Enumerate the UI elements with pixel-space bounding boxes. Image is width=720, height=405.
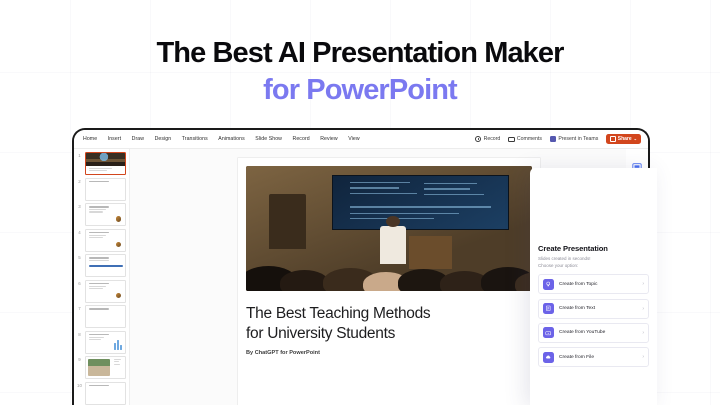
thumbnail-photo — [86, 153, 125, 166]
thumbnail-number: 4 — [74, 229, 85, 255]
ribbon-right-actions: Record Comments Present in Teams Share ⌄ — [475, 134, 641, 144]
slide-thumbnail[interactable] — [85, 254, 126, 277]
cloud-upload-icon — [543, 352, 554, 363]
ribbon-tab-view[interactable]: View — [348, 136, 359, 142]
thumbnail-photo — [88, 359, 110, 376]
chevron-right-icon: › — [642, 306, 644, 312]
chevron-right-icon: › — [642, 281, 644, 287]
create-option-label: Create from YouTube — [559, 330, 637, 335]
thumbnail-number: 6 — [74, 280, 85, 306]
hero-line-2: for PowerPoint — [0, 73, 720, 107]
photo-projection-screen — [332, 175, 509, 230]
thumbnail-number: 3 — [74, 203, 85, 229]
chevron-right-icon: › — [642, 330, 644, 336]
thumbnail-text — [86, 281, 125, 292]
designer-icon[interactable] — [632, 159, 642, 168]
ribbon-tab-record[interactable]: Record — [293, 136, 310, 142]
create-option-label: Create from File — [559, 355, 637, 360]
thumbnail-image-circle — [115, 241, 123, 249]
thumbnail-number: 8 — [74, 331, 85, 357]
panel-subtitle-line-2: Choose your option: — [538, 263, 649, 270]
slide-title-line-2: for University Students — [246, 324, 532, 344]
slide-thumbnail[interactable] — [85, 382, 126, 405]
thumbnail-columns — [86, 312, 125, 319]
video-icon — [543, 327, 554, 338]
ribbon-tab-animations[interactable]: Animations — [218, 136, 244, 142]
ribbon-tab-insert[interactable]: Insert — [108, 136, 121, 142]
ribbon-tab-home[interactable]: Home — [83, 136, 97, 142]
ribbon-tab-transitions[interactable]: Transitions — [182, 136, 208, 142]
thumbnail-chart — [114, 340, 122, 350]
hero-heading: The Best AI Presentation Maker for Power… — [0, 36, 720, 107]
current-slide[interactable]: The Best Teaching Methods for University… — [238, 158, 540, 405]
thumbnail-number: 2 — [74, 178, 85, 204]
thumbnail-number: 10 — [74, 382, 85, 405]
create-option-label: Create from Text — [559, 306, 637, 311]
thumbnail-columns — [86, 184, 125, 191]
panel-subtitle-line-1: Slides created in seconds! — [538, 256, 649, 263]
slide-title[interactable]: The Best Teaching Methods for University… — [246, 304, 532, 343]
record-icon — [475, 136, 481, 142]
share-icon — [610, 136, 615, 141]
ribbon-present-label: Present in Teams — [558, 136, 598, 142]
ribbon-tab-slide-show[interactable]: Slide Show — [255, 136, 282, 142]
create-option-create-from-text[interactable]: Create from Text› — [538, 299, 649, 319]
thumbnail-number: 9 — [74, 356, 85, 382]
ribbon-menu: HomeInsertDrawDesignTransitionsAnimation… — [83, 136, 360, 142]
thumbnail-text — [86, 204, 125, 215]
photo-audience — [246, 234, 532, 292]
create-option-create-from-topic[interactable]: Create from Topic› — [538, 274, 649, 294]
ribbon-tab-design[interactable]: Design — [155, 136, 172, 142]
slide-thumbnail[interactable] — [85, 229, 126, 252]
thumbnail-number: 1 — [74, 152, 85, 178]
chevron-down-icon: ⌄ — [634, 137, 637, 141]
panel-title: Create Presentation — [538, 168, 649, 253]
chevron-right-icon: › — [642, 354, 644, 360]
thumbnail-accent-bar — [89, 265, 123, 267]
thumbnail-text — [86, 230, 125, 241]
thumbnail-text — [86, 255, 125, 263]
thumbnail-numbers: 12345678910 — [74, 149, 85, 405]
thumbnail-text — [86, 166, 125, 173]
ribbon-present-in-teams-button[interactable]: Present in Teams — [550, 136, 598, 142]
bulb-icon — [543, 279, 554, 290]
thumbnail-image-circle — [115, 292, 123, 300]
share-label: Share — [618, 136, 632, 142]
share-button[interactable]: Share ⌄ — [606, 134, 641, 144]
thumbnail-number: 7 — [74, 305, 85, 331]
ribbon-record-button[interactable]: Record — [475, 136, 500, 142]
hero-line-1: The Best AI Presentation Maker — [0, 36, 720, 70]
create-option-label: Create from Topic — [559, 282, 637, 287]
slide-thumbnail[interactable] — [85, 305, 126, 328]
slide-thumbnail[interactable] — [85, 178, 126, 201]
thumbnail-number: 5 — [74, 254, 85, 280]
ribbon-record-label: Record — [484, 136, 501, 142]
slide-thumbnail-panel[interactable]: 12345678910 — [74, 149, 130, 405]
thumbnail-list[interactable] — [85, 149, 129, 405]
ribbon-comments-button[interactable]: Comments — [508, 136, 542, 142]
ribbon-comments-label: Comments — [517, 136, 542, 142]
slide-thumbnail[interactable] — [85, 203, 126, 226]
thumbnail-text — [86, 383, 125, 389]
slide-image[interactable] — [246, 166, 532, 291]
thumbnail-image-circle — [115, 215, 123, 223]
teams-icon — [550, 136, 556, 142]
slide-thumbnail[interactable] — [85, 280, 126, 303]
thumbnail-text — [111, 357, 125, 367]
create-option-create-from-youtube[interactable]: Create from YouTube› — [538, 323, 649, 343]
create-option-create-from-file[interactable]: Create from File› — [538, 347, 649, 367]
text-document-icon — [543, 303, 554, 314]
create-options-list[interactable]: Create from Topic›Create from Text›Creat… — [538, 274, 649, 367]
ribbon-tab-draw[interactable]: Draw — [132, 136, 144, 142]
slide-byline: By ChatGPT for PowerPoint — [246, 350, 532, 356]
slide-thumbnail[interactable] — [85, 331, 126, 354]
ribbon-bar: HomeInsertDrawDesignTransitionsAnimation… — [74, 130, 648, 149]
slide-thumbnail[interactable] — [85, 152, 126, 175]
comment-icon — [508, 137, 514, 142]
create-presentation-panel[interactable]: Create Presentation Slides created in se… — [530, 168, 657, 405]
panel-subtitle: Slides created in seconds! Choose your o… — [538, 256, 649, 270]
slide-title-line-1: The Best Teaching Methods — [246, 304, 532, 324]
slide-thumbnail[interactable] — [85, 356, 126, 379]
ribbon-tab-review[interactable]: Review — [320, 136, 338, 142]
